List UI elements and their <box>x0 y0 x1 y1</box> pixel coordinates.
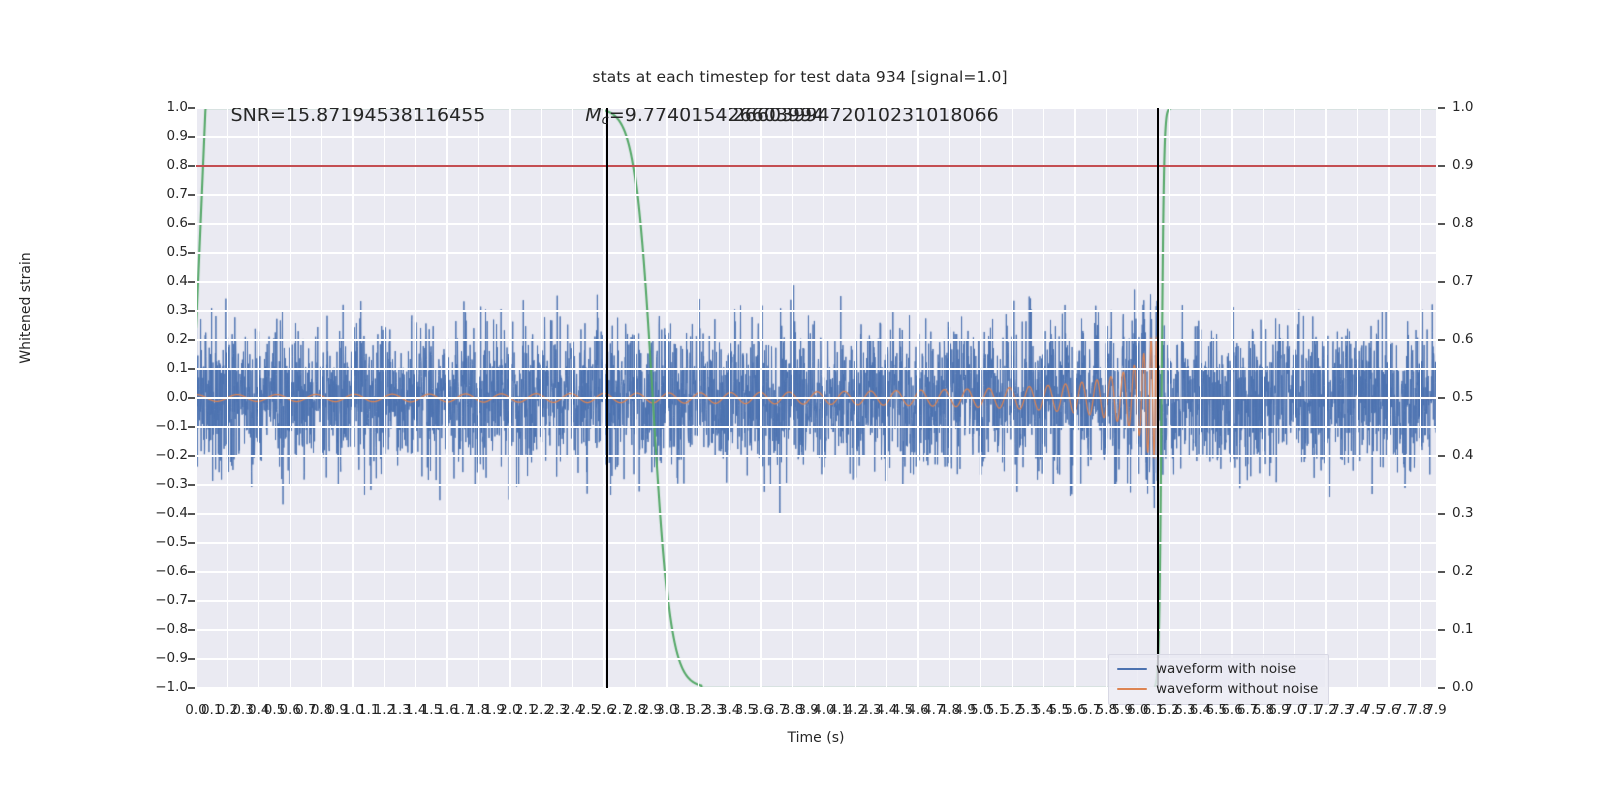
grid-line-horizontal <box>196 542 1436 543</box>
y-axis-tick-label-left: −0.2 <box>155 447 188 463</box>
grid-line-vertical <box>698 108 699 688</box>
y-axis-tick-mark-right <box>1438 339 1445 340</box>
legend-swatch-noise <box>1117 668 1147 671</box>
y-axis-tick-label-left: 0.5 <box>167 244 188 260</box>
grid-line-vertical <box>855 108 856 688</box>
y-axis-tick-mark-right <box>1438 455 1445 456</box>
grid-line-horizontal <box>196 426 1436 427</box>
legend-item: waveform without noise <box>1117 681 1318 697</box>
y-axis-tick-label-left: −0.7 <box>155 592 188 608</box>
grid-line-vertical <box>1325 108 1326 688</box>
grid-line-horizontal <box>196 223 1436 224</box>
grid-line-vertical <box>1294 108 1295 688</box>
y-axis-tick-label-left: −0.1 <box>155 418 188 434</box>
grid-line-vertical <box>1388 108 1389 688</box>
y-axis-tick-label-left: 0.7 <box>167 186 188 202</box>
grid-line-vertical <box>384 108 385 688</box>
y-axis-tick-label-left: 1.0 <box>167 99 188 115</box>
page-title: stats at each timestep for test data 934… <box>0 68 1600 86</box>
grid-line-horizontal <box>196 455 1436 456</box>
grid-line-horizontal <box>196 629 1436 630</box>
y-axis-tick-mark-left <box>188 542 195 543</box>
grid-line-horizontal <box>196 194 1436 195</box>
grid-line-horizontal <box>196 339 1436 340</box>
x-axis-tick-label: 7.9 <box>1425 702 1446 718</box>
y-axis-tick-mark-right <box>1438 513 1445 514</box>
y-axis-tick-mark-left <box>188 484 195 485</box>
y-axis-tick-mark-left <box>188 223 195 224</box>
grid-line-vertical <box>666 108 667 688</box>
grid-line-horizontal <box>196 310 1436 311</box>
legend-label-noise: waveform with noise <box>1156 661 1296 677</box>
grid-line-vertical <box>446 108 447 688</box>
y-axis-tick-label-left: −0.3 <box>155 476 188 492</box>
y-axis-tick-mark-left <box>188 339 195 340</box>
grid-line-vertical <box>1357 108 1358 688</box>
grid-line-vertical <box>572 108 573 688</box>
grid-line-vertical <box>1263 108 1264 688</box>
y-axis-tick-label-right: 1.0 <box>1452 99 1473 115</box>
legend: waveform with noise waveform without noi… <box>1108 654 1329 705</box>
grid-line-horizontal <box>196 368 1436 369</box>
grid-line-vertical <box>1106 108 1107 688</box>
y-axis-tick-mark-left <box>188 194 195 195</box>
grid-line-vertical <box>1137 108 1138 688</box>
grid-line-vertical <box>1420 108 1421 688</box>
y-axis-tick-mark-left <box>188 629 195 630</box>
x-axis-label: Time (s) <box>196 730 1436 746</box>
y-axis-tick-mark-right <box>1438 281 1445 282</box>
y-axis-tick-mark-left <box>188 252 195 253</box>
y-axis-tick-label-left: 0.8 <box>167 157 188 173</box>
legend-item: waveform with noise <box>1117 661 1318 677</box>
grid-line-horizontal <box>196 281 1436 282</box>
event-marker-line <box>1157 108 1159 688</box>
grid-line-horizontal <box>196 252 1436 253</box>
figure-canvas: stats at each timestep for test data 934… <box>0 0 1600 800</box>
y-axis-tick-mark-right <box>1438 165 1445 166</box>
y-axis-tick-mark-left <box>188 455 195 456</box>
grid-line-horizontal <box>196 571 1436 572</box>
y-axis-tick-mark-left <box>188 426 195 427</box>
y-axis-tick-mark-right <box>1438 571 1445 572</box>
grid-line-vertical <box>603 108 604 688</box>
y-axis-tick-mark-right <box>1438 107 1445 108</box>
grid-line-vertical <box>415 108 416 688</box>
legend-swatch-clean <box>1117 688 1147 691</box>
grid-line-vertical <box>541 108 542 688</box>
grid-line-vertical <box>290 108 291 688</box>
grid-line-vertical <box>1043 108 1044 688</box>
y-axis-tick-label-right: 0.8 <box>1452 215 1473 231</box>
y-axis-tick-label-right: 0.3 <box>1452 505 1473 521</box>
grid-line-vertical <box>635 108 636 688</box>
y-axis-tick-label-left: 0.1 <box>167 360 188 376</box>
event-marker-line <box>606 108 608 688</box>
y-axis-label-left: Whitened strain <box>18 158 34 458</box>
y-axis-tick-mark-right <box>1438 687 1445 688</box>
y-axis-tick-mark-left <box>188 165 195 166</box>
overlapping-value-annotation: 2660399472010231018066 <box>733 108 999 126</box>
grid-line-vertical <box>917 108 918 688</box>
y-axis-tick-mark-left <box>188 136 195 137</box>
y-axis-tick-mark-left <box>188 368 195 369</box>
y-axis-tick-label-right: 0.6 <box>1452 331 1473 347</box>
y-axis-tick-label-left: −0.5 <box>155 534 188 550</box>
y-axis-tick-label-right: 0.0 <box>1452 679 1473 695</box>
y-axis-tick-label-left: −1.0 <box>155 679 188 695</box>
y-axis-tick-mark-right <box>1438 629 1445 630</box>
y-axis-tick-mark-left <box>188 281 195 282</box>
grid-line-vertical <box>949 108 950 688</box>
grid-line-vertical <box>1231 108 1232 688</box>
grid-line-horizontal <box>196 600 1436 601</box>
y-axis-tick-mark-left <box>188 397 195 398</box>
y-axis-tick-mark-left <box>188 107 195 108</box>
y-axis-tick-label-left: 0.4 <box>167 273 188 289</box>
grid-line-horizontal <box>196 397 1436 398</box>
y-axis-tick-label-left: 0.0 <box>167 389 188 405</box>
plot-area: SNR=15.87194538116455Mc=9.77401542660399… <box>196 108 1436 688</box>
y-axis-tick-mark-left <box>188 687 195 688</box>
y-axis-tick-label-right: 0.1 <box>1452 621 1473 637</box>
y-axis-tick-label-left: −0.8 <box>155 621 188 637</box>
grid-line-vertical <box>792 108 793 688</box>
grid-line-vertical <box>1200 108 1201 688</box>
y-axis-tick-label-right: 0.2 <box>1452 563 1473 579</box>
y-axis-tick-mark-left <box>188 658 195 659</box>
y-axis-tick-mark-left <box>188 513 195 514</box>
y-axis-tick-label-left: −0.6 <box>155 563 188 579</box>
snr-annotation: SNR=15.87194538116455 <box>231 108 486 126</box>
y-axis-tick-mark-left <box>188 310 195 311</box>
grid-line-vertical <box>258 108 259 688</box>
y-axis-tick-label-left: 0.3 <box>167 302 188 318</box>
y-axis-tick-label-right: 0.5 <box>1452 389 1473 405</box>
grid-line-vertical <box>196 108 197 688</box>
grid-line-horizontal <box>196 513 1436 514</box>
y-axis-tick-label-left: 0.6 <box>167 215 188 231</box>
grid-line-vertical <box>321 108 322 688</box>
grid-line-vertical <box>1169 108 1170 688</box>
legend-label-clean: waveform without noise <box>1156 681 1318 697</box>
grid-line-horizontal <box>196 484 1436 485</box>
y-axis-tick-label-left: −0.4 <box>155 505 188 521</box>
grid-line-horizontal <box>196 136 1436 137</box>
grid-line-vertical <box>823 108 824 688</box>
grid-line-vertical <box>729 108 730 688</box>
grid-line-vertical <box>352 108 353 688</box>
y-axis-tick-label-left: −0.9 <box>155 650 188 666</box>
y-axis-tick-label-right: 0.4 <box>1452 447 1473 463</box>
y-axis-tick-mark-left <box>188 571 195 572</box>
grid-line-vertical <box>886 108 887 688</box>
grid-line-vertical <box>980 108 981 688</box>
grid-line-vertical <box>509 108 510 688</box>
y-axis-tick-mark-left <box>188 600 195 601</box>
y-axis-tick-mark-right <box>1438 223 1445 224</box>
y-axis-tick-label-left: 0.9 <box>167 128 188 144</box>
detection-threshold-line <box>196 165 1436 167</box>
y-axis-tick-label-right: 0.7 <box>1452 273 1473 289</box>
grid-line-vertical <box>1012 108 1013 688</box>
y-axis-tick-label-left: 0.2 <box>167 331 188 347</box>
y-axis-tick-label-right: 0.9 <box>1452 157 1473 173</box>
y-axis-tick-mark-right <box>1438 397 1445 398</box>
grid-line-vertical <box>227 108 228 688</box>
grid-line-vertical <box>760 108 761 688</box>
grid-line-vertical <box>478 108 479 688</box>
grid-line-vertical <box>1074 108 1075 688</box>
